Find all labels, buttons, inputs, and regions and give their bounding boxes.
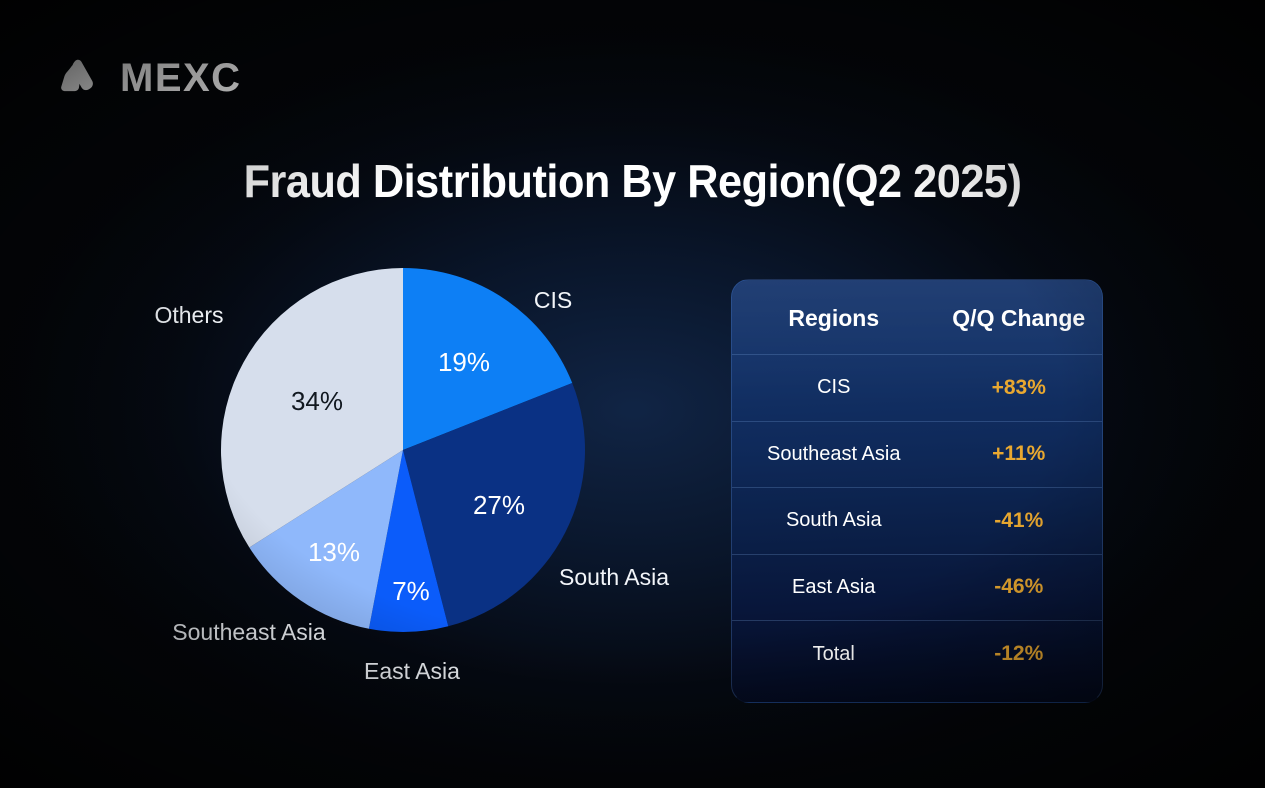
column-header-regions: Regions — [732, 280, 936, 355]
slice-label-south-asia: South Asia — [559, 564, 669, 590]
slice-percentage-southeast-asia: 13% — [308, 537, 360, 567]
cell-region: Southeast Asia — [732, 421, 936, 488]
slice-label-others: Others — [154, 302, 223, 328]
slice-label-east-asia: East Asia — [364, 658, 460, 684]
qoq-change-table-panel: Regions Q/Q Change CIS+83%Southeast Asia… — [731, 279, 1103, 703]
page-title: Fraud Distribution By Region(Q2 2025) — [38, 154, 1227, 208]
mexc-triangles-icon — [61, 59, 107, 97]
table-row[interactable]: East Asia-46% — [732, 554, 1102, 621]
cell-qq-change: +83% — [936, 355, 1103, 422]
infographic-canvas: MEXC Fraud Distribution By Region(Q2 202… — [0, 0, 1265, 788]
cell-qq-change: -46% — [936, 554, 1103, 621]
qoq-change-table: Regions Q/Q Change CIS+83%Southeast Asia… — [732, 280, 1102, 687]
slice-label-cis: CIS — [534, 287, 572, 313]
slice-percentage-cis: 19% — [438, 347, 490, 377]
column-header-qq-change: Q/Q Change — [936, 280, 1103, 355]
pie-chart: 19%27%7%13%34% CISSouth AsiaEast AsiaSou… — [0, 240, 720, 710]
table-header-row: Regions Q/Q Change — [732, 280, 1102, 355]
slice-percentage-east-asia: 7% — [392, 576, 430, 606]
table-row[interactable]: South Asia-41% — [732, 488, 1102, 555]
cell-region: East Asia — [732, 554, 936, 621]
mexc-logo: MEXC — [61, 58, 242, 98]
slice-percentage-others: 34% — [291, 386, 343, 416]
table-row[interactable]: Total-12% — [732, 621, 1102, 688]
table-row[interactable]: CIS+83% — [732, 355, 1102, 422]
cell-region: Total — [732, 621, 936, 688]
cell-qq-change: -41% — [936, 488, 1103, 555]
slice-label-southeast-asia: Southeast Asia — [172, 619, 326, 645]
cell-qq-change: -12% — [936, 621, 1103, 688]
slice-percentage-south-asia: 27% — [473, 490, 525, 520]
cell-qq-change: +11% — [936, 421, 1103, 488]
mexc-wordmark: MEXC — [120, 58, 242, 98]
cell-region: CIS — [732, 355, 936, 422]
table-row[interactable]: Southeast Asia+11% — [732, 421, 1102, 488]
cell-region: South Asia — [732, 488, 936, 555]
